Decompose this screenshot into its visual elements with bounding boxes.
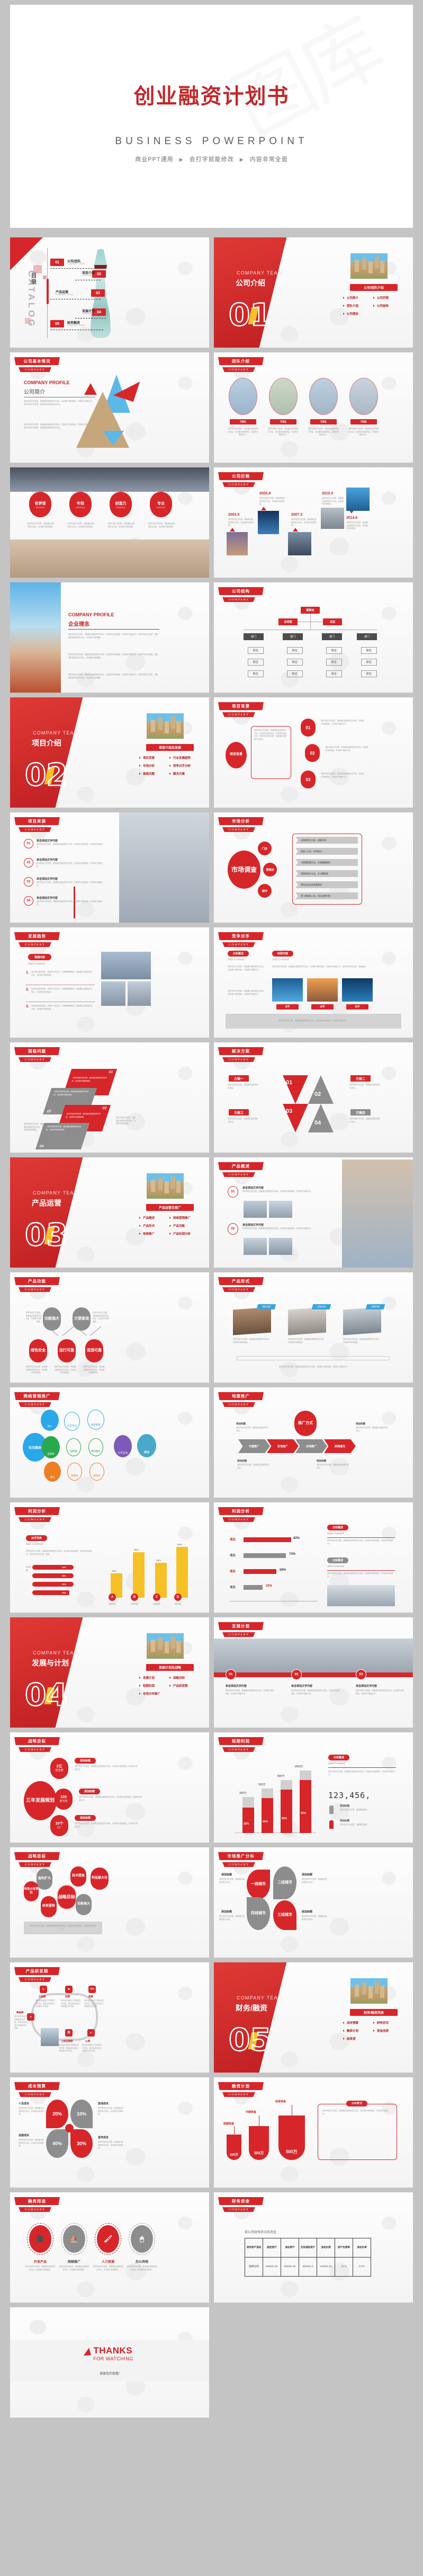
slide-thumbnail-product-overview[interactable]: 产品概述 COMPANY 01 单击添加文字内容 您的内容打在这里，或者通过复制… (214, 1157, 413, 1268)
section-label-en: COMPANY TEAM (33, 1190, 78, 1196)
arrow-icon (84, 2348, 94, 2359)
table-cell: 8.7% (353, 2258, 371, 2277)
city-node: 二线城市 (273, 1866, 296, 1899)
catalog-item-sub: COMPANY TEAM (67, 263, 85, 265)
slide-thumbnail-finance-plan[interactable]: 融资计划 COMPANY 200万 前期资金 300万 中期资金 500万 后续… (214, 2077, 413, 2188)
plan-label: 单击添加文字内容 (226, 1684, 247, 1688)
slide-thumbnail-short-profit[interactable]: 短期利润 COMPANY 30% 300万 60% 500万 80% 800万 … (214, 1732, 413, 1843)
plan-label: 方案四 (350, 1109, 371, 1116)
topic-item[interactable]: 竞争对手分析 (169, 764, 197, 768)
hand-icon: ✍ (87, 2029, 95, 2037)
bar (242, 1808, 254, 1833)
section-label-cn: 公司介绍 (236, 278, 265, 288)
city-desc: 您的内容打在这里，或者通过复制您的文本后。 (302, 1915, 327, 1921)
promo-label-desc: 您的内容打在这里，或者通过复制您的文本后。 (236, 1427, 269, 1432)
step-label: 创期 (65, 1995, 70, 1998)
step-desc: 单击此处添加工作描述文字内容，单击此处添加工作描述文字内容。 (14, 2015, 27, 2030)
item-text: 在此添加您的描述，具体的介绍文字，可根据需要更改，或者通过复制您的文本后，在此框… (31, 1005, 94, 1011)
slide-title: 面临问题 (14, 1047, 60, 1055)
thanks-text: THANKS FOR WATCHING (93, 2345, 133, 2361)
topic-item[interactable]: 面临问题 (139, 772, 167, 776)
form-badge: 添加内容 (257, 1304, 276, 1309)
slide-title: 项目来源 (14, 817, 60, 825)
slide-title: 产品形式 (218, 1277, 264, 1285)
slide-thumbnail-profit-analysis-1[interactable]: 利润分析 COMPANY 对字列表 Add Content 您的内容打在这里，或… (10, 1502, 209, 1613)
legend-value: 45% (59, 1565, 69, 1570)
value-label-en: PROFILE (76, 506, 85, 509)
lightbulb-icon: ☀ (27, 2013, 34, 2021)
competitor-body-left-2: 您的内容打在这里，或者通过复制您的文本后，在此框中选择粘贴，并选择只保留文字。 (228, 990, 266, 996)
slide-subtitle: COMPANY (19, 942, 51, 947)
problem-text: 您的内容打在这里，或者通过复制您的文本后，在此框中选择粘贴。 (53, 1091, 92, 1096)
competitor-photo (342, 978, 373, 1002)
section-button[interactable]: 发展计划及战略 (146, 1664, 194, 1671)
bar-value: 65% (156, 1559, 161, 1562)
value-badge: 创造力 PROFILE (110, 492, 132, 517)
icon-desc: 您的内容打在这里，或者通过复制。 (340, 1809, 391, 1812)
divider (328, 1767, 396, 1768)
slide-subtitle: COMPANY (19, 1402, 51, 1407)
slide-subtitle: COMPANY (222, 2092, 255, 2097)
budget-label: 宣传成本 (98, 2136, 109, 2139)
member-desc: 您的内容打在这里，或者通过复制您的文本后，在此框中选择粘贴，并选择只保留文字。 (228, 428, 258, 437)
topic-item[interactable]: 产品概述 (139, 1216, 167, 1220)
slide-thumbnail-project-background[interactable]: 项目背景 COMPANY 项目背景 您的内容打在这里，或者通过复制您的文本后，在… (214, 697, 413, 808)
add-content-label: Add Content (327, 1532, 344, 1535)
promo-label-desc: 您的内容打在这里，或者通过复制您的文本后。 (317, 1464, 349, 1470)
row-desc: 您的内容打在这里，或者通过复制您的文本后，在此框中选择粘贴，并选择只保留文字。 (37, 862, 105, 868)
slide-title: 融资用途 (14, 2197, 60, 2205)
add-content-label: Add Content (327, 1565, 344, 1568)
photo-caption: 对手 (346, 1004, 368, 1010)
divider (26, 985, 95, 985)
slide-title: 市场推广分布 (218, 1852, 264, 1860)
legend-value: 65% (59, 1582, 69, 1587)
table-row: 金额比例 823421.34 923421.34 523421.3 123421… (245, 2258, 371, 2277)
avatar (269, 378, 298, 415)
goal-badge: 添加标题 (79, 1789, 100, 1794)
promo-node: 微信 (44, 1462, 61, 1482)
section-label-cn: 发展与计划 (32, 1658, 69, 1668)
bar (155, 1563, 167, 1598)
plan-text: 您的内容打在这里，或者通过复制您的文本后。 (349, 1118, 380, 1123)
bar-value: 45% (112, 1570, 116, 1572)
plan-text: 您的内容打在这里，或者通过复制您的文本后。 (228, 1084, 258, 1090)
catalog-item-sub: COMPANY TEAM (67, 324, 85, 326)
step-label: 上线运营期 (61, 2040, 73, 2043)
topic-item[interactable]: 资金用途 (373, 2029, 401, 2033)
row-label: 项目 (230, 1569, 236, 1573)
divider (327, 1570, 395, 1571)
slide-subtitle: COMPANY (222, 482, 255, 487)
slide-thumbnail-offline-promotion[interactable]: 地面推广 COMPANY 推广方式 代理推广 异地推广 本地推广 新闻曝光 添加… (214, 1387, 413, 1498)
row-label: 单击添加文字内容 (37, 877, 58, 881)
goal-desc: 您的内容打在这里，或者通过复制您的文本后，在此框中选择粘贴，并选择只保留文字。 (79, 1796, 143, 1802)
slide-thumbnail-company-history[interactable]: 公司历程 COMPANY 2003.5 您的内容打在这里，或者通过复制您的文本后… (214, 467, 413, 578)
member-name-badge: 代理名 (270, 419, 296, 424)
table-cell: 金额比例 (245, 2258, 263, 2277)
plan-label: 单击添加文字内容 (356, 1684, 377, 1688)
topic-item[interactable]: 解决方案 (169, 772, 197, 776)
teamwork-photo-bottom (10, 539, 209, 578)
profile-heading-en: COMPANY PROFILE (24, 380, 70, 385)
topic-item[interactable]: 产品利润分析 (169, 1232, 197, 1236)
city-label: 添加标题 (221, 1873, 232, 1876)
competitor-photo (307, 978, 338, 1002)
topic-item[interactable]: 项目背景 (139, 756, 167, 760)
icon-desc: 您的内容打在这里，或者通过复制。 (340, 1823, 391, 1827)
slide-thumbnail-section-05[interactable]: COMPANY TEAM 财务/融资 05 财务/融资用途 成本预算 财务状况 … (214, 1962, 413, 2073)
function-desc: 您的内容打在这里，或者通过复制您的文本后，在此框中选择粘贴。 (93, 1312, 110, 1323)
plan-label: 单击添加文字内容 (291, 1684, 312, 1688)
stacked-bar-chart: 30% 300万 60% 500万 80% 800万 90% 1000万 (235, 1764, 316, 1833)
product-photo (269, 1238, 292, 1255)
promo-label: 添加标题 (237, 1459, 247, 1463)
topic-item[interactable]: 融资计划 (343, 2029, 371, 2033)
slide-subtitle: COMPANY (222, 1862, 255, 1867)
bar-caption: 添加标题 (127, 1603, 142, 1606)
slide-thumbnail-online-promotion[interactable]: 网络营销推广 COMPANY 社交媒体 用户 社交平台 发布频率 自媒体 流程图… (10, 1387, 209, 1498)
usage-desc: 您的内容打在这里，或者通过复制您的文本后，在此框中选择粘贴。 (25, 2265, 56, 2271)
goal-badge: 添加标题 (75, 1758, 96, 1764)
slide-thumbnail-competitor[interactable]: 竞争对手 COMPANY 分析概况 Add Content 您的内容打在这里，或… (214, 927, 413, 1038)
slide-thumbnail-market-analysis[interactable]: 市场分析 COMPANY 市场调查 门店 营销店 超市 买物的地方大选、地理环境… (214, 812, 413, 923)
topic-item[interactable]: 网络营销推广 (169, 1216, 197, 1220)
promo-node: 发布频率 (87, 1410, 104, 1430)
product-photo (244, 1201, 267, 1218)
page-tagline: 商业PPT通用 ▶ 会打字就能修改 ▶ 内容非常全面 (10, 155, 413, 163)
bar-value: 90% (301, 1812, 306, 1815)
problem-number: 04 (39, 1145, 44, 1148)
slide-thumbnail-grid: CATALOG 目录 01 公司/团队 COMPANY TEAM 03 产品运营… (10, 237, 413, 2418)
slide-title: 竞争对手 (218, 932, 264, 940)
city-desc: 您的内容打在这里，或者通过复制您的文本后。 (219, 1915, 245, 1921)
value-desc: 您的内容打在这里，或者通过复制您的文本后，在此框中选择粘贴。 (27, 523, 55, 528)
promo-node: 社交平台 (64, 1412, 80, 1431)
goal-node: 100 家分店 (55, 1789, 73, 1810)
slide-title: 公司历程 (218, 472, 264, 480)
point-item: 买物的地方大选、地理环境 (295, 837, 358, 844)
topic-item[interactable]: 公司历程 (373, 296, 401, 300)
goal-node: 10个 工厂 (50, 1815, 68, 1836)
catalog-item-sub: COMPANY TEAM (82, 313, 100, 315)
city-desc: 您的内容打在这里，或者通过复制您的文本后。 (302, 1878, 327, 1884)
legend-label: 添加标题 (26, 1566, 32, 1572)
form-photo (288, 1307, 326, 1335)
budget-petal: 40% (46, 2129, 68, 2158)
flag-icon: ⚑ (65, 1986, 73, 1993)
value-label-cn: 专业 (157, 501, 165, 506)
badge: 对字列表 (26, 1535, 47, 1541)
slide-thumbnail-cost-budget[interactable]: 成本预算 COMPANY 20% 10% 40% 30% 人员成本 您的内容打在… (10, 2077, 209, 2188)
row-number: 02 (24, 858, 33, 867)
bar (176, 1547, 188, 1598)
slide-thumbnail-finance-table[interactable]: 财务资金 COMPANY 某公司财务状况及资金 项目资产流动 固定资产 流动资产… (214, 2192, 413, 2303)
channel-node: 门店 (257, 841, 272, 856)
goal-node: 成功 (137, 1434, 156, 1457)
topic-item[interactable]: 行业发展趋势 (169, 756, 197, 760)
slide-title: 战略目标 (14, 1737, 60, 1745)
row-desc: 您的内容打在这里，或者通过复制您的文本后，在此框中选择粘贴，并选择只保留文字。 (37, 843, 105, 849)
topic-item[interactable]: 产品研发期 (169, 1684, 197, 1688)
slide-subtitle: COMPANY (222, 2207, 255, 2212)
org-position: 职位 (361, 659, 377, 666)
goal-small: 工厂 (57, 1826, 62, 1829)
topic-item[interactable]: 团队介绍 (343, 304, 371, 308)
solution-triangle (308, 1104, 334, 1132)
usage-desc: 您的内容打在这里，或者通过复制您的文本后，在此框中选择粘贴。 (127, 2265, 157, 2271)
org-department: 部门 (357, 633, 377, 640)
slide-thumbnail-trend[interactable]: 发展趋势 COMPANY 预期内容 Add Content 1. 在此添加您的描… (10, 927, 209, 1038)
topic-item[interactable]: 公司简介 (343, 296, 371, 300)
catalog-item-sub: COMPANY TEAM (56, 294, 73, 296)
goal-footer-text: 您的内容打在这里，或者通过复制您的文本后，在此框中选择粘贴，并选择只保留文字。 (28, 1925, 98, 1931)
connector-line (90, 1326, 102, 1336)
table-header-cell: 流动资产 (281, 2238, 299, 2258)
finance-table: 项目资产流动 固定资产 流动资产 无形递延资产 流动负债 资产负债率 流动比率 … (245, 2238, 371, 2277)
city-photo (147, 1173, 184, 1199)
org-position: 职位 (287, 670, 303, 677)
promo-node: 新媒体 (67, 1463, 82, 1481)
bar-value: 80% (282, 1817, 287, 1820)
dashed-connector (50, 330, 103, 330)
plan-number: 02 (291, 1669, 302, 1680)
slide-subtitle: COMPANY (222, 1057, 255, 1062)
table-cell: 523421.3 (299, 2258, 317, 2277)
function-desc: 您的内容打在这里，或者通过复制您的文本后，在此框中选择粘贴。 (25, 1312, 42, 1323)
topic-item[interactable]: 结束语 (343, 2037, 371, 2041)
topic-item[interactable]: 战略目标 (169, 1676, 197, 1680)
solution-number: 01 (286, 1079, 292, 1086)
row-number: 03 (24, 877, 33, 887)
product-photo (269, 1201, 292, 1218)
slide-thumbnail-section-01[interactable]: COMPANY TEAM 公司介绍 01 公司/团队介绍 公司简介 公司历程 团… (214, 237, 413, 348)
history-photo (321, 508, 344, 529)
plan-desc: 您的内容打在这里，或者通过复制您的文本后，在此框中选择粘贴，并选择只保留文字。 (291, 1689, 340, 1695)
city-photo (147, 713, 184, 739)
slide-title: 公司基本情况 (14, 357, 60, 365)
row-label: 单击添加文字内容 (37, 896, 58, 900)
goal-node: 盈利扩大 (37, 1869, 52, 1890)
point-item: 将国的地方太远、方式需要改 (295, 870, 358, 877)
dashed-connector (75, 318, 106, 318)
slide-thumbnail-development-plan[interactable]: 发展计划 COMPANY 01 单击添加文字内容 您的内容打在这里，或者通过复制… (214, 1617, 413, 1728)
connector-line (62, 1326, 74, 1336)
slide-thumbnail-team-values[interactable]: 有梦想 PROFILE 年轻 PROFILE 创造力 PROFILE 专业 PR… (10, 467, 209, 578)
red-strip (214, 1672, 413, 1677)
slide-subtitle: COMPANY (19, 1747, 51, 1752)
table-header-cell: 固定资产 (263, 2238, 281, 2258)
slide-subtitle: COMPANY (19, 1287, 51, 1292)
funding-stage-label: 后续资金 (275, 2100, 286, 2103)
problem-text: 您的内容打在这里，或者通过复制您的文本后，在此框中选择粘贴。 (46, 1126, 85, 1131)
member-name-badge: 代理名 (310, 419, 337, 424)
table-header-cell: 无形递延资产 (299, 2238, 317, 2258)
table-cell: 923421.34 (281, 2258, 299, 2277)
promo-node: 微博文 (89, 1463, 104, 1481)
slide-thumbnail-problems[interactable]: 面临问题 COMPANY 01 您的内容打在这里，或者通过复制您的文本后，在此框… (10, 1042, 209, 1153)
item-number: 3. (26, 1005, 29, 1008)
topic-item[interactable]: 公司理念 (343, 312, 371, 316)
topic-item[interactable]: 成本预算 (343, 2021, 371, 2025)
table-header-cell: 项目资产流动 (245, 2238, 263, 2258)
profile-body-text-3: 您的内容打在这里，或者通过复制您的文本后，在此框中选择粘贴，并选择只保留文字，您… (68, 674, 159, 679)
slide-subtitle: COMPANY (222, 1747, 255, 1752)
row-desc: 您的内容打在这里，或者通过复制您的文本后，在此框中选择粘贴，并选择只保留文字。 (242, 1227, 317, 1231)
funding-stage-label: 前期资金 (223, 2122, 234, 2126)
slide-subtitle: COMPANY (19, 2207, 51, 2212)
plan-text: 您的内容打在这里，或者通过复制您的文本后。 (349, 1084, 380, 1090)
slide-thumbnail-product-form[interactable]: 产品形式 COMPANY 添加内容 您的内容打在这里，或者通过复制您的文本后，在… (214, 1272, 413, 1383)
slide-thumbnail-finance-usage[interactable]: 融资用途 COMPANY 🎥 ⛵ 🖌 🖱 开发产品 您的内容打在这里，或者通过复… (10, 2192, 209, 2303)
history-year: 2014.6 (346, 516, 357, 520)
city-label: 添加标题 (302, 1873, 312, 1876)
section-number: 01 (229, 297, 272, 333)
usage-label: 办公场地 (127, 2259, 157, 2264)
slide-thumbnail-company-basic[interactable]: 公司基本情况 COMPANY COMPANY PROFILE 公司简介 您的内容… (10, 352, 209, 463)
slide-thumbnail-thanks[interactable]: THANKS FOR WATCHING 谢谢您的观看! (10, 2307, 209, 2418)
connector-line (292, 2105, 292, 2115)
bar-category: 800万 (277, 1774, 284, 1778)
row-desc: 您的内容打在这里，或者通过复制您的文本后，在此框中选择粘贴，并选择只保留文字。 (242, 1190, 317, 1193)
topic-item[interactable]: 发展计划 (139, 1676, 167, 1680)
promo-label-desc: 您的内容打在这里，或者通过复制您的文本后。 (356, 1427, 389, 1432)
big-number: 123,456, (328, 1791, 371, 1800)
slide-thumbnail-section-03[interactable]: COMPANY TEAM 产品运营 03 产品运营及推广 产品概述 网络营销推广… (10, 1157, 209, 1268)
topic-item[interactable]: 市场分析 (139, 764, 167, 768)
item-text: 在此添加您的描述，具体的介绍文字，可根据需要更改，或者通过复制您的文本后，在此框… (31, 971, 94, 977)
budget-petal: 30% (70, 2129, 93, 2158)
form-text: 您的内容打在这里，或者通过复制您的文本后，在此框中选择粘贴。 (343, 1338, 381, 1344)
product-photo (244, 1238, 267, 1255)
badge: 分析概述 (327, 1557, 348, 1563)
form-photo (233, 1307, 271, 1335)
section-number: 05 (229, 2022, 272, 2058)
org-position: 职位 (287, 647, 303, 654)
promo-node: 分享互动 (114, 1435, 132, 1457)
dashed-connector (75, 280, 101, 280)
slide-subtitle: COMPANY (19, 1862, 51, 1867)
slide-thumbnail-philosophy[interactable]: COMPANY PROFILE 企业理念 您的内容打在这里，或者通过复制您的文本… (10, 582, 209, 693)
ppt-template-preview-page: 图库 创业融资计划书 BUSINESS POWERPOINT 商业PPT通用 ▶… (0, 0, 423, 2576)
function-desc: 您的内容打在这里，或者通过复制您的文本后，在此框中选择粘贴。 (82, 1366, 105, 1375)
slide-thumbnail-section-04[interactable]: COMPANY TEAM 发展与计划 04 发展计划及战略 发展计划 战略目标 … (10, 1617, 209, 1728)
slide-title: 利润分析 (14, 1507, 60, 1515)
usage-label: 网络推广 (59, 2259, 89, 2264)
team-photo-strip (214, 1639, 413, 1675)
topic-item[interactable]: 产品功能 (169, 1224, 197, 1228)
plan-number: 03 (356, 1669, 366, 1680)
solution-number: 04 (314, 1120, 321, 1126)
legend-value: 95% (59, 1590, 69, 1595)
table-header-cell: 流动负债 (317, 2238, 335, 2258)
slide-thumbnail-market-distribution[interactable]: 市场推广分布 COMPANY 一线城市 二线城市 四线城市 三线城市 添加标题 … (214, 1847, 413, 1958)
plan-text: 您的内容打在这里，或者通过复制您的文本后。 (228, 1118, 258, 1123)
bar-value: 30% (244, 1822, 249, 1826)
bar-chart: 45% 85% 65% 95% (105, 1534, 190, 1598)
value-label-cn: 有梦想 (35, 501, 46, 506)
row-label: 单击添加文字内容 (242, 1186, 264, 1190)
slide-thumbnail-team-intro[interactable]: 团队介绍 COMPANY 代理名 代理名 代理名 代理名 您的内容打在这里，或者… (214, 352, 413, 463)
add-content-label: Add Content (26, 1543, 43, 1546)
history-year: 2007.2 (291, 513, 302, 517)
topic-item[interactable]: 地面推广 (139, 1232, 167, 1236)
topic-item[interactable]: 产品形式 (139, 1224, 167, 1228)
axis-line (230, 1601, 318, 1601)
item-text: 在此添加您的描述，具体的介绍文字，可根据需要更改，或者通过复制您的文本后，在此框… (31, 988, 94, 994)
section-button[interactable]: 产品运营及推广 (146, 1204, 194, 1211)
channel-node: 超市 (257, 883, 272, 898)
slide-thumbnail-company-structure[interactable]: 公司结构 COMPANY 董事会 总经理 总监 部门 部门 部门 部门 职位 职… (214, 582, 413, 693)
slide-thumbnail-profit-analysis-2[interactable]: 利润分析 COMPANY 分析概述 Add Content 您的内容打在这里，或… (214, 1502, 413, 1613)
dashed-connector (50, 268, 103, 269)
budget-desc: 您的内容打在这里，或者通过复制您的文本后，在此框中选择粘贴。 (19, 2139, 44, 2148)
slide-thumbnail-section-02[interactable]: COMPANY TEAM 项目介绍 02 项目介绍及发展 项目背景 行业发展趋势… (10, 697, 209, 808)
bar-category: D (174, 1594, 182, 1601)
city-label: 添加标题 (302, 1910, 312, 1914)
section-button[interactable]: 公司/团队介绍 (350, 284, 398, 291)
topic-item[interactable]: 市场分布推广 (139, 1692, 167, 1696)
tagline-item-2: 会打字就能修改 (190, 156, 234, 163)
slide-thumbnail-strategy-goal-2[interactable]: 战略目标 COMPANY 战略目标 盈利扩大 技术提高 利益最大化 市场占有率快… (10, 1847, 209, 1958)
slide-thumbnail-project-source[interactable]: 项目来源 COMPANY 01 单击添加文字内容 您的内容打在这里，或者通过复制… (10, 812, 209, 923)
camera-icon: 🎥 (29, 2225, 51, 2253)
slide-subtitle: COMPANY (222, 712, 255, 717)
section-button[interactable]: 项目介绍及发展 (146, 744, 194, 751)
row-number: 04 (24, 896, 33, 906)
funding-stage-label: 中期资金 (246, 2110, 256, 2114)
slide-subtitle: COMPANY (19, 1057, 51, 1062)
slide-thumbnail-product-function[interactable]: 产品功能 COMPANY 功能强大 方便查询 绿色安全 运行可靠 坚固可靠 您的… (10, 1272, 209, 1383)
topic-item[interactable]: 财务状况 (373, 2021, 401, 2025)
center-node: 项目背景 (226, 742, 247, 768)
value-label-cn: 年轻 (77, 501, 84, 506)
value-label-en: PROFILE (156, 506, 165, 509)
hbar-value: 32% (266, 1584, 272, 1588)
promo-label-desc: 您的内容打在这里，或者通过复制您的文本后。 (237, 1464, 270, 1470)
profit-body: 您的内容打在这里，或者通过复制您的文本后，在此框中选择粘贴，并选择只保留文字。 (327, 1572, 395, 1578)
hbar (244, 1537, 291, 1542)
solution-triangle (308, 1075, 334, 1104)
table-cell: 12 % (335, 2258, 353, 2277)
step-node: 02 (305, 744, 320, 762)
step-desc: 单击此处添加工作描述文字内容，单击此处添加工作描述文字内容。 (59, 2044, 80, 2053)
hbar (244, 1553, 286, 1558)
promo-node: 自媒体 (42, 1436, 60, 1458)
row-label: 单击添加文字内容 (37, 839, 58, 843)
slide-subtitle: COMPANY (19, 1517, 51, 1522)
topic-item[interactable]: 公司结构 (373, 304, 401, 308)
form-badge: 添加内容 (312, 1304, 331, 1309)
triangle-decoration (84, 383, 97, 395)
profit-body: 您的内容打在这里，或者通过复制您的文本后，在此框中选择粘贴，并选择只保留文字。 (327, 1539, 395, 1545)
topic-item[interactable]: 短期利润 (139, 1684, 167, 1688)
form-badge: 添加内容 (366, 1304, 385, 1309)
promo-step: 新闻曝光 (324, 1439, 356, 1453)
value-badge: 专业 PROFILE (150, 492, 172, 517)
promo-label: 添加标题 (356, 1422, 365, 1426)
section-button[interactable]: 财务/融资用途 (350, 2009, 398, 2016)
slide-thumbnail-strategy-goal[interactable]: 战略目标 COMPANY 三年发展规划 2亿 营业额 100 家分店 10个 工… (10, 1732, 209, 1843)
goal-badge: 添加标题 (75, 1815, 96, 1821)
value-desc: 您的内容打在这里，或者通过复制您的文本后，在此框中选择粘贴。 (148, 523, 175, 528)
member-name-badge: 代理名 (350, 419, 377, 424)
slide-thumbnail-catalog[interactable]: CATALOG 目录 01 公司/团队 COMPANY TEAM 03 产品运营… (10, 237, 209, 348)
slide-thumbnail-rnd-period[interactable]: 产品研发期 COMPANY ☀ 筹备期 单击此处添加工作描述文字内容，单击此处添… (10, 1962, 209, 2073)
bar-category: 300万 (239, 1791, 246, 1795)
slide-thumbnail-solutions[interactable]: 解决方案 COMPANY 01 02 03 04 方案一 您的内容打在这里，或者… (214, 1042, 413, 1153)
marker-icon (230, 528, 235, 532)
